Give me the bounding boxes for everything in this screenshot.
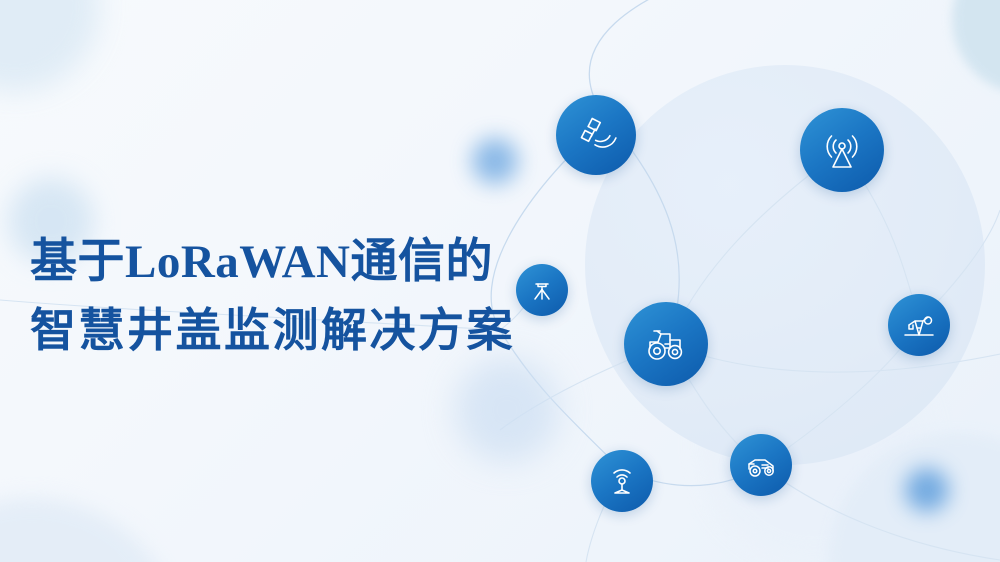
node-tractor[interactable] [624, 302, 708, 386]
decorative-blob-bottom-right [828, 432, 1000, 562]
decorative-dot-lower [905, 468, 949, 512]
title-block: 基于LoRaWAN通信的 智慧井盖监测解决方案 [30, 228, 570, 364]
decorative-blob-bottom-right-outer [700, 330, 930, 560]
satellite-dish-icon [574, 113, 618, 157]
title-line-2: 智慧井盖监测解决方案 [30, 297, 570, 364]
node-satellite[interactable] [556, 95, 636, 175]
harvester-icon [743, 447, 779, 483]
decorative-blob-top-left [0, 0, 100, 92]
decorative-blob-center [455, 358, 559, 462]
node-harvester[interactable] [730, 434, 792, 496]
decorative-blob-top-right [952, 0, 1000, 94]
decorative-sphere [585, 65, 985, 465]
decorative-dot-upper [472, 138, 518, 184]
node-broadcast-tower[interactable] [800, 108, 884, 192]
tractor-icon [642, 320, 690, 368]
oil-pumpjack-icon [901, 307, 937, 343]
decorative-blob-bottom-left [0, 498, 182, 562]
presentation-slide: 基于LoRaWAN通信的 智慧井盖监测解决方案 [0, 0, 1000, 562]
node-gps-beacon[interactable] [591, 450, 653, 512]
title-line-1: 基于LoRaWAN通信的 [30, 228, 570, 297]
gps-beacon-icon [604, 463, 640, 499]
broadcast-tower-icon [819, 127, 865, 173]
node-oil-pumpjack[interactable] [888, 294, 950, 356]
